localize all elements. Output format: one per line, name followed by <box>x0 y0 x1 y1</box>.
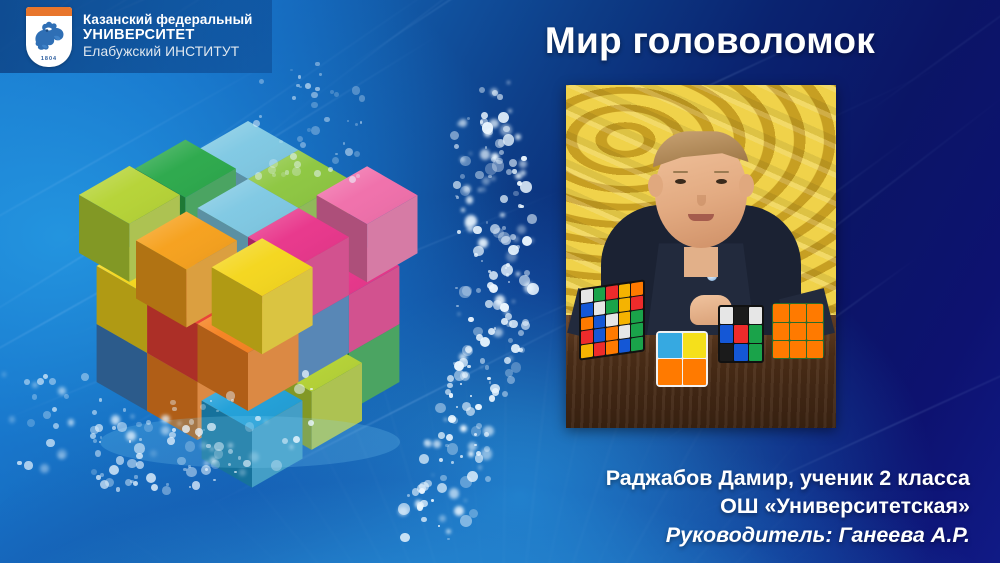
bokeh-dot <box>447 375 454 382</box>
bokeh-dot <box>189 486 191 488</box>
cube-sticker <box>683 359 707 385</box>
cube-sticker <box>594 315 606 329</box>
bokeh-dot <box>520 205 523 208</box>
student-photo <box>566 85 836 428</box>
cube-sticker <box>734 307 747 324</box>
credits-block: Раджабов Дамир, ученик 2 класса ОШ «Унив… <box>606 464 970 549</box>
bokeh-dot <box>494 327 497 330</box>
bokeh-dot <box>490 384 499 393</box>
bokeh-dot <box>506 320 513 327</box>
photo-nose <box>697 195 706 206</box>
bokeh-dot <box>460 515 472 527</box>
photo-neck <box>684 247 718 277</box>
bokeh-dot <box>478 238 488 248</box>
light-streak <box>733 0 1000 2</box>
bokeh-dot <box>466 348 472 354</box>
bokeh-dot <box>501 303 508 310</box>
logo-text-block: Казанский федеральный УНИВЕРСИТЕТ Елабуж… <box>83 13 252 59</box>
kfu-shield-icon: 1804 <box>26 7 72 67</box>
bokeh-dot <box>43 374 48 379</box>
cube-sticker <box>790 341 806 358</box>
cube-sticker <box>773 323 789 340</box>
bokeh-dot <box>527 214 537 224</box>
bokeh-dot <box>512 169 517 174</box>
cube-sticker <box>594 342 606 356</box>
zilant-dragon-icon <box>30 18 68 52</box>
bokeh-dot <box>474 433 477 436</box>
cube-sticker <box>807 323 823 340</box>
logo-line-2: УНИВЕРСИТЕТ <box>83 28 252 43</box>
bokeh-dot <box>437 483 447 493</box>
bokeh-dot <box>516 245 520 249</box>
bokeh-dot <box>511 362 522 373</box>
cube-sticker <box>606 313 618 327</box>
bokeh-dot <box>488 328 496 336</box>
bokeh-dot <box>37 378 44 385</box>
bokeh-dot <box>213 479 215 481</box>
bokeh-dot <box>521 156 526 161</box>
bokeh-dot <box>489 119 498 128</box>
bokeh-dot <box>451 461 454 464</box>
slide-title: Мир головоломок <box>500 20 920 62</box>
bokeh-dot <box>489 284 498 293</box>
bokeh-dot <box>40 464 49 473</box>
bokeh-dot <box>490 88 498 96</box>
cube-sticker <box>658 359 682 385</box>
bokeh-dot <box>105 478 115 488</box>
bokeh-dot <box>449 488 459 498</box>
bokeh-dot <box>432 474 434 476</box>
bokeh-dot <box>505 267 508 270</box>
bokeh-dot <box>508 245 519 256</box>
bokeh-dot <box>407 494 410 497</box>
bokeh-dot <box>398 503 410 515</box>
bokeh-dot <box>482 122 494 134</box>
bokeh-dot <box>490 176 495 181</box>
bokeh-dot <box>468 317 473 322</box>
bokeh-dot <box>2 372 7 377</box>
bokeh-dot <box>467 471 478 482</box>
bokeh-dot <box>488 175 492 179</box>
bokeh-dot <box>57 449 67 459</box>
cube-sticker <box>606 285 618 299</box>
bokeh-dot <box>474 444 476 446</box>
bokeh-dot <box>476 334 484 342</box>
bokeh-dot <box>487 128 493 134</box>
credit-school: ОШ «Университетская» <box>606 492 970 520</box>
bokeh-dot <box>492 90 498 96</box>
bokeh-dot <box>459 119 467 127</box>
university-logo-panel: 1804 Казанский федеральный УНИВЕРСИТЕТ Е… <box>0 0 272 73</box>
bokeh-dot <box>476 451 481 456</box>
bokeh-dot <box>447 443 459 455</box>
bokeh-dot <box>46 439 54 447</box>
bokeh-dot <box>501 264 513 276</box>
bokeh-dot <box>487 282 494 289</box>
bokeh-dot <box>460 383 463 386</box>
bokeh-dot <box>484 129 492 137</box>
bokeh-dot <box>507 81 510 84</box>
cube-5x5 <box>579 284 645 356</box>
bokeh-dot <box>512 300 516 304</box>
bokeh-dot <box>497 94 502 99</box>
bokeh-dot <box>504 357 511 364</box>
credit-student: Раджабов Дамир, ученик 2 класса <box>606 464 970 492</box>
logo-line-1: Казанский федеральный <box>83 13 252 27</box>
photo-brow-right <box>714 171 729 174</box>
bokeh-dot <box>417 504 423 510</box>
bokeh-dot <box>450 131 459 140</box>
bokeh-dot <box>469 509 479 519</box>
bokeh-dot <box>506 273 510 277</box>
cube-sticker <box>581 344 593 358</box>
bokeh-dot <box>529 238 534 243</box>
bokeh-dot <box>480 120 483 123</box>
cube-sticker <box>790 304 806 321</box>
bokeh-dot <box>467 117 470 120</box>
bokeh-dot <box>400 533 410 543</box>
bokeh-dot <box>192 481 200 489</box>
bokeh-dot <box>17 461 21 465</box>
cube-sticker <box>807 304 823 321</box>
bokeh-dot <box>520 181 532 193</box>
presentation-slide: 1804 Казанский федеральный УНИВЕРСИТЕТ Е… <box>0 0 1000 563</box>
bokeh-dot <box>515 173 521 179</box>
shield-year: 1804 <box>26 56 72 62</box>
cube-sticker <box>606 327 618 341</box>
bokeh-dot <box>522 319 530 327</box>
bokeh-dot <box>486 221 488 223</box>
bokeh-dot <box>466 407 475 416</box>
cube-sticker <box>581 330 593 344</box>
cube-sticker <box>807 341 823 358</box>
bokeh-dot <box>446 529 451 534</box>
bokeh-dot <box>496 158 503 165</box>
bokeh-dot <box>420 500 427 507</box>
bokeh-dot <box>521 321 530 330</box>
bokeh-dot <box>519 160 527 168</box>
logo-line-3: Елабужский ИНСТИТУТ <box>83 45 252 60</box>
bokeh-dot <box>448 415 456 423</box>
bokeh-dot <box>498 112 510 124</box>
bokeh-dot <box>64 394 69 399</box>
bokeh-dot <box>488 270 491 273</box>
bokeh-dot <box>476 288 481 293</box>
bokeh-dot <box>298 75 301 78</box>
bokeh-dot <box>438 525 440 527</box>
cube-sticker <box>581 303 593 317</box>
bokeh-dot <box>481 260 483 262</box>
cube-sticker <box>581 289 593 303</box>
cube-reflection <box>100 416 400 468</box>
bokeh-dot <box>24 379 30 385</box>
bokeh-dot <box>457 230 461 234</box>
bokeh-dot <box>509 320 518 329</box>
bokeh-dot <box>468 451 474 457</box>
bokeh-dot <box>474 253 478 257</box>
bokeh-dot <box>479 87 485 93</box>
cube-sticker <box>619 283 631 297</box>
bokeh-dot <box>456 196 459 199</box>
rubiks-cube-illustration <box>70 80 430 470</box>
bokeh-dot <box>485 476 491 482</box>
bokeh-dot <box>463 374 468 379</box>
bokeh-dot <box>473 246 484 257</box>
bokeh-dot <box>491 153 499 161</box>
bokeh-dot <box>32 382 38 388</box>
bokeh-dot <box>458 313 460 315</box>
cube-sticker <box>734 325 747 342</box>
cube-sticker <box>734 344 747 361</box>
bokeh-dot <box>467 365 471 369</box>
bokeh-dot <box>485 300 493 308</box>
bokeh-dot <box>460 371 470 381</box>
bokeh-dot <box>445 444 448 447</box>
cube-sticker <box>720 325 733 342</box>
cube-sticker <box>631 337 643 351</box>
bokeh-dot <box>478 465 482 469</box>
bokeh-dot <box>508 281 510 283</box>
bokeh-dot <box>510 234 516 240</box>
bokeh-dot <box>53 423 59 429</box>
bokeh-dot <box>459 286 470 297</box>
bokeh-dot <box>475 454 484 463</box>
bokeh-dot <box>439 515 447 523</box>
bokeh-dot <box>481 112 489 120</box>
bokeh-dot <box>516 272 521 277</box>
bokeh-dot <box>481 366 483 368</box>
bokeh-dot <box>433 440 441 448</box>
cube-sticker <box>619 325 631 339</box>
bokeh-dot <box>498 139 505 146</box>
bokeh-dot <box>460 476 472 488</box>
bokeh-dot <box>487 377 490 380</box>
bokeh-dot <box>319 73 321 75</box>
bokeh-dot <box>500 195 508 203</box>
bokeh-dot <box>440 475 447 482</box>
bokeh-dot <box>502 226 506 230</box>
bokeh-dot <box>515 134 521 140</box>
bokeh-dot <box>445 389 451 395</box>
bokeh-dot <box>480 118 488 126</box>
bokeh-dot <box>453 181 460 188</box>
bokeh-dot <box>100 473 104 477</box>
bokeh-dot <box>134 475 137 478</box>
cube-sticker <box>619 297 631 311</box>
bokeh-dot <box>453 362 457 366</box>
bokeh-dot <box>125 479 132 486</box>
bokeh-dot <box>485 365 490 370</box>
bokeh-dot <box>489 271 498 280</box>
bokeh-dot <box>518 204 522 208</box>
cube-sticker <box>631 282 643 296</box>
bokeh-dot <box>465 215 477 227</box>
bokeh-dot <box>460 174 465 179</box>
bokeh-dot <box>447 538 450 541</box>
bokeh-dot <box>517 225 526 234</box>
bokeh-dot <box>454 361 464 371</box>
cube-sticker <box>581 316 593 330</box>
bokeh-dot <box>435 403 446 414</box>
bokeh-dot <box>475 404 481 410</box>
bokeh-dot <box>438 432 445 439</box>
bokeh-dot <box>451 417 458 424</box>
bokeh-dot <box>450 417 456 423</box>
bokeh-dot <box>9 416 16 423</box>
bokeh-dot <box>505 369 513 377</box>
bokeh-dot <box>519 275 531 287</box>
bokeh-dot <box>513 191 519 197</box>
bokeh-dot <box>24 461 32 469</box>
bokeh-dot <box>495 139 504 148</box>
bokeh-dot <box>518 348 522 352</box>
bokeh-dot <box>500 303 508 311</box>
bokeh-dot <box>505 313 512 320</box>
bokeh-dot <box>439 458 443 462</box>
bokeh-dot <box>462 286 472 296</box>
bokeh-dot <box>460 455 463 458</box>
bokeh-dot <box>454 144 459 149</box>
cube-3x3-stickerless <box>772 303 824 359</box>
bokeh-dot <box>52 407 57 412</box>
bokeh-dot <box>506 263 510 267</box>
bokeh-dot <box>58 387 67 396</box>
bokeh-dot <box>466 196 474 204</box>
bokeh-dot <box>480 337 490 347</box>
bokeh-dot <box>520 170 526 176</box>
bokeh-dot <box>508 109 512 113</box>
bokeh-dot <box>468 442 477 451</box>
bokeh-dot <box>146 473 157 484</box>
bokeh-dot <box>493 300 502 309</box>
bokeh-dot <box>483 426 494 437</box>
cube-sticker <box>720 344 733 361</box>
bokeh-dot <box>467 226 473 232</box>
bokeh-dot <box>460 186 470 196</box>
bokeh-dot <box>524 282 535 293</box>
bokeh-dot <box>493 328 502 337</box>
bokeh-dot <box>417 484 426 493</box>
bokeh-dot <box>444 418 447 421</box>
cube-sticker <box>594 287 606 301</box>
bokeh-dot <box>455 195 457 197</box>
bokeh-dot <box>459 358 468 367</box>
bokeh-dot <box>478 188 482 192</box>
bokeh-dot <box>417 502 424 509</box>
cube-sticker <box>749 325 762 342</box>
bokeh-dot <box>491 157 496 162</box>
bokeh-dot <box>462 345 473 356</box>
bokeh-dot <box>480 149 490 159</box>
bokeh-dot <box>485 146 488 149</box>
bokeh-dot <box>495 295 506 306</box>
bokeh-dot <box>489 381 491 383</box>
bokeh-dot <box>49 378 56 385</box>
bokeh-dot <box>398 507 408 517</box>
bokeh-dot <box>506 169 512 175</box>
cube-sticker <box>606 299 618 313</box>
bokeh-dot <box>513 236 519 242</box>
bokeh-dot <box>522 236 533 247</box>
bokeh-dot <box>419 482 428 491</box>
bokeh-dot <box>476 423 482 429</box>
bokeh-dot <box>415 500 422 507</box>
photo-mouth <box>688 214 714 221</box>
bokeh-dot <box>96 475 101 480</box>
cube-sticker <box>749 307 762 324</box>
cube-sticker <box>594 301 606 315</box>
bokeh-dot <box>456 406 458 408</box>
bokeh-dot <box>501 236 511 246</box>
bokeh-dot <box>58 453 64 459</box>
cube-sticker <box>720 307 733 324</box>
bokeh-dot <box>499 150 504 155</box>
bokeh-dot <box>492 160 503 171</box>
bokeh-dot <box>463 185 471 193</box>
cube-sticker <box>773 341 789 358</box>
bokeh-dot <box>504 310 509 315</box>
bokeh-dot <box>465 346 472 353</box>
bokeh-dot <box>506 251 517 262</box>
bokeh-dot <box>503 134 514 145</box>
cube-2x2 <box>656 331 708 387</box>
bokeh-dot <box>503 126 510 133</box>
bokeh-dot <box>27 419 35 427</box>
cube-sticker <box>749 344 762 361</box>
bokeh-dot <box>482 177 490 185</box>
bokeh-dot <box>455 287 458 290</box>
bokeh-dot <box>508 356 513 361</box>
cube-3x3 <box>718 305 764 363</box>
bokeh-dot <box>493 228 503 238</box>
bokeh-dot <box>502 391 508 397</box>
light-ray <box>28 536 501 563</box>
bokeh-dot <box>459 353 467 361</box>
bokeh-dot <box>462 402 471 411</box>
bokeh-dot <box>484 432 489 437</box>
bokeh-dot <box>43 411 51 419</box>
bokeh-dot <box>471 426 481 436</box>
bokeh-dot <box>460 156 471 167</box>
bokeh-dot <box>133 481 138 486</box>
bokeh-dot <box>470 395 472 397</box>
bokeh-dot <box>519 347 525 353</box>
bokeh-dot <box>490 224 500 234</box>
bokeh-dot <box>461 208 465 212</box>
bokeh-dot <box>481 448 493 460</box>
bokeh-dot <box>460 425 467 432</box>
cube-sticker <box>619 339 631 353</box>
bokeh-dot <box>517 181 522 186</box>
cube-sticker <box>631 323 643 337</box>
bokeh-dot <box>91 469 97 475</box>
bokeh-dot <box>424 480 431 487</box>
cube-sticker <box>631 295 643 309</box>
bokeh-dot <box>500 124 512 136</box>
light-ray <box>453 255 502 563</box>
light-ray <box>55 491 501 563</box>
bokeh-dot <box>454 370 466 382</box>
bokeh-dot <box>480 187 486 193</box>
bokeh-dot <box>511 344 520 353</box>
bokeh-dot <box>166 483 168 485</box>
bokeh-dot <box>508 338 514 344</box>
bokeh-dot <box>498 232 509 243</box>
bokeh-dot <box>419 488 425 494</box>
bokeh-dot <box>507 376 515 384</box>
bokeh-dot <box>448 417 453 422</box>
bokeh-dot <box>527 283 539 295</box>
